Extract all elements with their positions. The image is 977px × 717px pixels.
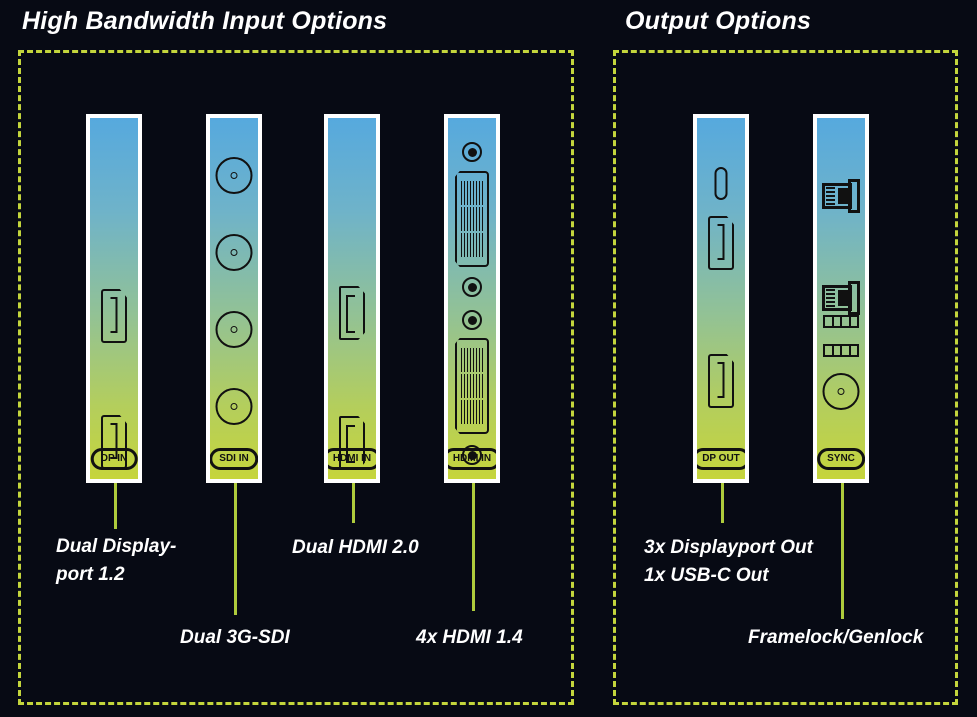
caption-hdmi-in-dvi: 4x HDMI 1.4 [416, 624, 523, 652]
rj45-pins [826, 187, 835, 205]
bnc-connector-icon [216, 388, 253, 425]
bracket-badge-sdi-in: SDI IN [210, 448, 258, 470]
rj45-pins [826, 289, 835, 307]
dvi-pin-grid [461, 348, 483, 424]
caption-sync: Framelock/Genlock [748, 624, 923, 652]
bracket-badge-hdmi-in-dvi: HDMI IN [448, 448, 496, 470]
bracket-face: DP OUT [697, 118, 745, 479]
leader-line-dp-in [114, 483, 117, 529]
hdmi-connector-icon [339, 286, 365, 340]
bnc-connector-icon [216, 311, 253, 348]
bracket-face: HDMI IN [448, 118, 496, 479]
coax-jack-icon [462, 310, 482, 330]
bracket-badge-sync: SYNC [817, 448, 865, 470]
caption-dp-in: Dual Display- port 1.2 [56, 533, 176, 588]
output-group-box [613, 50, 958, 705]
bnc-connector-icon [823, 373, 860, 410]
bracket-sdi-in[interactable]: SDI IN [206, 114, 262, 483]
rj45-connector-icon [822, 281, 860, 315]
dvi-connector-icon [455, 171, 489, 267]
rj45-connector-icon [822, 179, 860, 213]
bracket-badge-dp-in: DP IN [91, 448, 138, 470]
input-section-title: High Bandwidth Input Options [22, 7, 387, 36]
leader-line-sdi-in [234, 483, 237, 615]
rj45-plug [838, 188, 851, 204]
leader-line-hdmi-in-dvi [472, 483, 475, 611]
diagram-canvas: High Bandwidth Input Options Output Opti… [0, 0, 977, 717]
coax-jack-icon [462, 277, 482, 297]
caption-hdmi-in: Dual HDMI 2.0 [292, 534, 419, 562]
bracket-face: SDI IN [210, 118, 258, 479]
dvi-connector-icon [455, 338, 489, 434]
displayport-connector-icon [708, 216, 734, 270]
output-section-title: Output Options [625, 7, 811, 36]
bracket-dp-in[interactable]: DP IN [86, 114, 142, 483]
bracket-badge-hdmi-in: HDMI IN [328, 448, 376, 470]
caption-dp-out: 3x Displayport Out 1x USB-C Out [644, 534, 813, 589]
bracket-hdmi-in[interactable]: HDMI IN [324, 114, 380, 483]
bnc-connector-icon [216, 234, 253, 271]
rj45-plug [838, 290, 851, 306]
bracket-hdmi-in-dvi[interactable]: HDMI IN [444, 114, 500, 483]
caption-sdi-in: Dual 3G-SDI [180, 624, 290, 652]
bracket-dp-out[interactable]: DP OUT [693, 114, 749, 483]
bracket-sync[interactable]: SYNC [813, 114, 869, 483]
bnc-connector-icon [216, 157, 253, 194]
bracket-face: DP IN [90, 118, 138, 479]
leader-line-hdmi-in [352, 483, 355, 523]
led-bar-icon [823, 315, 859, 328]
bracket-badge-dp-out: DP OUT [697, 448, 745, 470]
coax-jack-icon [462, 142, 482, 162]
bracket-face: HDMI IN [328, 118, 376, 479]
leader-line-dp-out [721, 483, 724, 523]
dvi-pin-grid [461, 181, 483, 257]
displayport-connector-icon [708, 354, 734, 408]
led-bar-icon [823, 344, 859, 357]
bracket-face: SYNC [817, 118, 865, 479]
usb-c-connector-icon [715, 167, 728, 200]
leader-line-sync [841, 483, 844, 619]
displayport-connector-icon [101, 289, 127, 343]
